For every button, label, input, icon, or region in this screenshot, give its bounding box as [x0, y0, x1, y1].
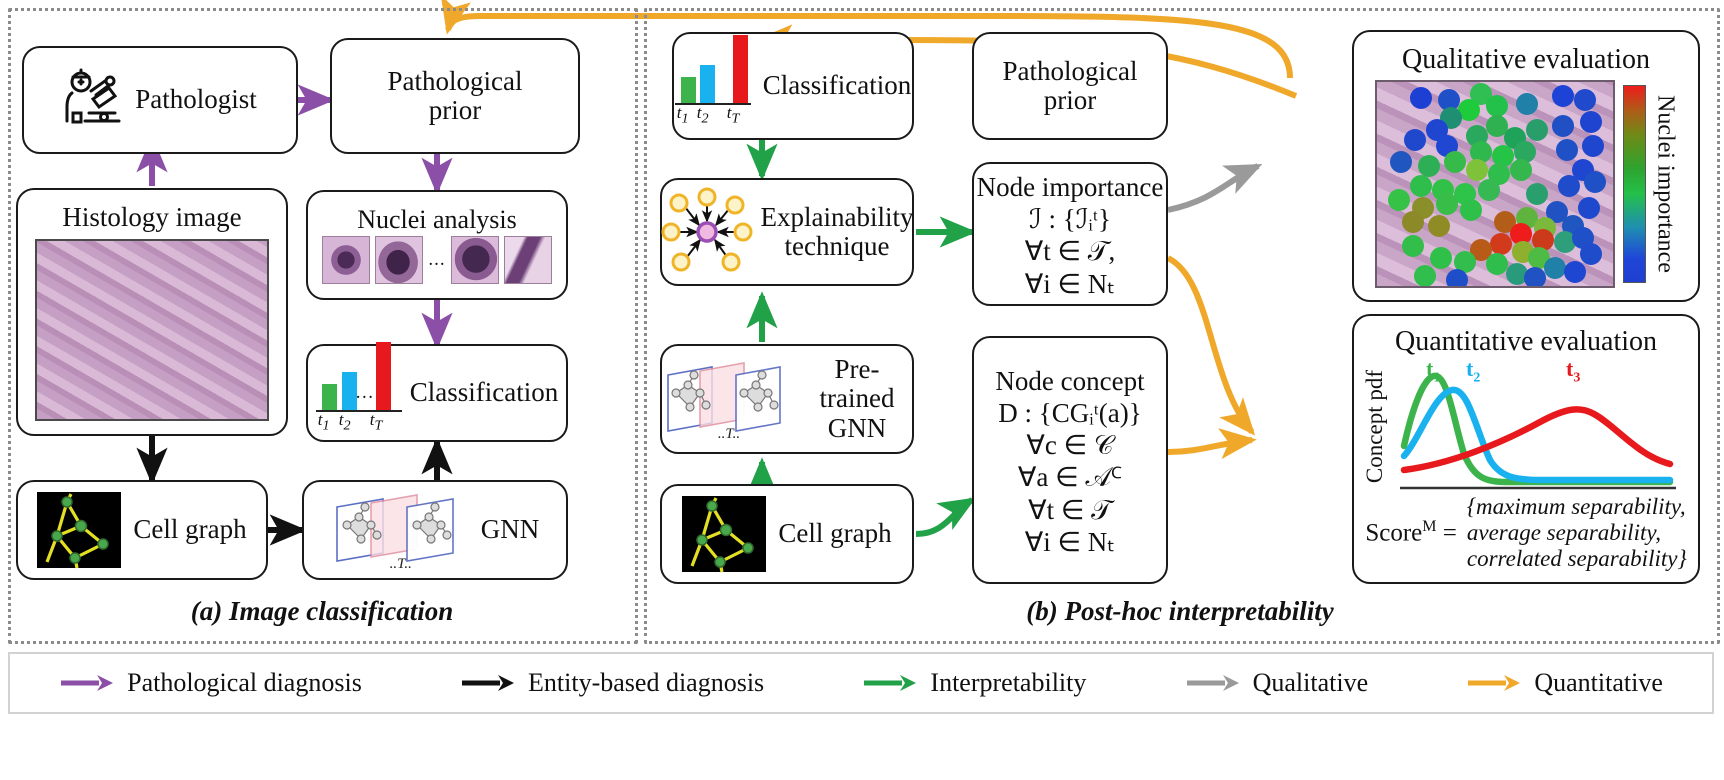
cell-graph-label-b: Cell graph: [778, 519, 891, 548]
classification-barchart-b: t1 t2 tT: [675, 49, 751, 123]
graph-explainability-icon: [661, 187, 753, 277]
bar-t2: [700, 65, 715, 103]
box-classification-a[interactable]: ... t1 t2 tT Classification: [306, 344, 568, 442]
pathological-prior-label-b: Pathological prior: [1003, 57, 1138, 115]
node-concept-line: ∀c ∈ 𝒞: [1026, 430, 1113, 461]
pathologist-label: Pathologist: [135, 85, 257, 114]
legend-label: Quantitative: [1534, 668, 1663, 698]
box-classification-b[interactable]: t1 t2 tT Classification: [672, 32, 914, 140]
legend-item-quantitative: Quantitative: [1466, 668, 1663, 698]
quantitative-title: Quantitative evaluation: [1395, 326, 1657, 358]
pdf-curve-t3: [1404, 410, 1670, 471]
classification-barchart-a: ... t1 t2 tT: [316, 356, 396, 430]
legend-label: Pathological diagnosis: [127, 668, 362, 698]
curve-label-t2: t2: [1466, 356, 1480, 386]
pathological-prior-label-a: Pathological prior: [388, 67, 523, 125]
qualitative-title: Qualitative evaluation: [1402, 44, 1650, 76]
concept-pdf-axis-label: Concept pdf: [1362, 370, 1388, 483]
box-qualitative-evaluation[interactable]: Qualitative evaluation: [1352, 30, 1700, 302]
caption-panel-a: (a) Image classification: [22, 596, 622, 627]
box-gnn-a[interactable]: ..T.. GNN: [302, 480, 568, 580]
box-pathological-prior-b[interactable]: Pathological prior: [972, 32, 1168, 140]
box-pretrained-gnn[interactable]: ..T.. Pre-trained GNN: [660, 344, 914, 454]
pdf-curve-t2: [1404, 390, 1670, 480]
score-formula: ScoreM = {maximum separability, average …: [1365, 494, 1686, 571]
box-cell-graph-b[interactable]: Cell graph: [660, 484, 914, 584]
histology-thumbnail: [35, 239, 269, 421]
arrow-right-icon: [59, 673, 115, 693]
gnn-layers-figure-b: ..T..: [662, 357, 796, 441]
score-lhs: ScoreM =: [1365, 518, 1457, 547]
node-importance-line: ℐ : {ℐᵢᵗ}: [1029, 204, 1111, 235]
legend-item-entity-based-diagnosis: Entity-based diagnosis: [460, 668, 764, 698]
legend-label: Qualitative: [1253, 668, 1369, 698]
gnn-label-a: GNN: [481, 515, 540, 544]
node-concept-line: D : {CGᵢᵗ(a)}: [998, 398, 1141, 429]
gnn-layers-label-a: ..T..: [390, 556, 412, 573]
node-importance-line: ∀i ∈ Nₜ: [1025, 269, 1115, 300]
qualitative-heatmap-image: [1375, 80, 1615, 288]
cell-graph-label-a: Cell graph: [133, 515, 246, 544]
score-rhs: {maximum separability, average separabil…: [1467, 494, 1687, 571]
box-explainability-technique[interactable]: Explainability technique: [660, 178, 914, 286]
classification-label-a: Classification: [410, 378, 558, 407]
node-importance-title: Node importance: [977, 172, 1164, 203]
arrow-right-icon: [1185, 673, 1241, 693]
arrow-right-icon: [460, 673, 516, 693]
explainability-label: Explainability technique: [761, 203, 914, 261]
cell-graph-thumbnail-b: [682, 496, 766, 572]
gnn-layers-figure-a: ..T..: [331, 489, 471, 571]
bar-t1: [681, 77, 696, 103]
box-nuclei-analysis[interactable]: Nuclei analysis ...: [306, 190, 568, 300]
pdf-curves-plot: t1 t2 t3: [1390, 360, 1690, 492]
legend-bar: Pathological diagnosis Entity-based diag…: [8, 652, 1714, 714]
figure-root: Pathologist Pathological prior Histology…: [0, 0, 1724, 780]
node-concept-line: ∀i ∈ Nₜ: [1025, 527, 1115, 558]
bar-t2: [342, 372, 357, 410]
node-concept-line: ∀a ∈ 𝒜ꟲ: [1018, 462, 1122, 493]
nucleus-patch: [322, 236, 370, 284]
histology-image-label: Histology image: [62, 203, 241, 232]
nuclei-importance-colorbar: [1623, 85, 1646, 283]
bar-tT: [733, 35, 748, 103]
nucleus-patch: [375, 236, 423, 284]
cell-graph-thumbnail-a: [37, 492, 121, 568]
legend-item-pathological-diagnosis: Pathological diagnosis: [59, 668, 362, 698]
box-histology-image[interactable]: Histology image: [16, 188, 288, 436]
caption-panel-b: (b) Post-hoc interpretability: [760, 596, 1600, 627]
node-importance-line: ∀t ∈ 𝒯,: [1025, 236, 1115, 267]
pretrained-gnn-label: Pre-trained GNN: [802, 355, 912, 442]
node-concept-title: Node concept: [995, 366, 1144, 397]
box-pathological-prior-a[interactable]: Pathological prior: [330, 38, 580, 154]
center-node-icon: [698, 223, 716, 241]
legend-label: Entity-based diagnosis: [528, 668, 764, 698]
nucleus-patch: [451, 236, 499, 284]
bar-ellipsis: ...: [356, 382, 375, 404]
nuclei-ellipsis: ...: [428, 249, 445, 271]
curve-label-t1: t1: [1426, 356, 1440, 386]
box-cell-graph-a[interactable]: Cell graph: [16, 480, 268, 580]
pathologist-icon: [63, 69, 127, 131]
gnn-layers-label-b: ..T..: [718, 426, 740, 443]
nuclei-importance-colorbar-label: Nuclei importance: [1654, 95, 1678, 273]
nucleus-patch: [504, 236, 552, 284]
box-node-concept[interactable]: Node concept D : {CGᵢᵗ(a)} ∀c ∈ 𝒞 ∀a ∈ 𝒜…: [972, 336, 1168, 584]
box-node-importance[interactable]: Node importance ℐ : {ℐᵢᵗ} ∀t ∈ 𝒯, ∀i ∈ N…: [972, 162, 1168, 306]
legend-item-interpretability: Interpretability: [862, 668, 1086, 698]
classification-label-b: Classification: [763, 71, 911, 100]
bar-tT: [376, 342, 391, 410]
nuclei-analysis-label: Nuclei analysis: [357, 206, 517, 234]
curve-label-t3: t3: [1566, 356, 1580, 386]
box-quantitative-evaluation[interactable]: Quantitative evaluation Concept pdf t1 t…: [1352, 314, 1700, 584]
box-pathologist[interactable]: Pathologist: [22, 46, 298, 154]
arrow-right-icon: [1466, 673, 1522, 693]
legend-item-qualitative: Qualitative: [1185, 668, 1369, 698]
bar-t1: [322, 384, 337, 410]
arrow-right-icon: [862, 673, 918, 693]
node-concept-line: ∀t ∈ 𝒯: [1028, 495, 1112, 526]
legend-label: Interpretability: [930, 668, 1086, 698]
